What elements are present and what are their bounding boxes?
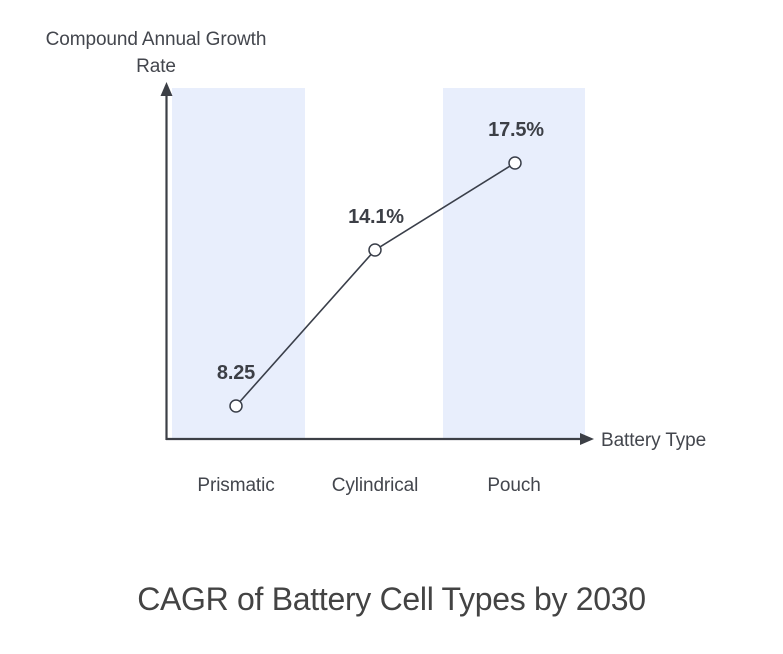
x-axis-title: Battery Type xyxy=(601,428,706,454)
chart-container: Compound Annual Growth Rate 8.25 14.1% 1… xyxy=(0,0,783,654)
data-point-label: 14.1% xyxy=(348,204,404,230)
x-axis-arrow-icon xyxy=(580,433,594,445)
category-band-prismatic xyxy=(172,88,305,439)
x-axis-tick-label-cylindrical: Cylindrical xyxy=(332,473,419,499)
x-axis-tick-label-prismatic: Prismatic xyxy=(197,473,274,499)
y-axis-arrow-icon xyxy=(161,82,173,96)
plot-area xyxy=(0,0,783,654)
x-axis-tick-label-pouch: Pouch xyxy=(487,473,540,499)
data-point-marker[interactable] xyxy=(509,157,521,169)
chart-title: CAGR of Battery Cell Types by 2030 xyxy=(0,578,783,620)
data-point-label: 8.25 xyxy=(217,360,255,386)
data-point-marker[interactable] xyxy=(369,244,381,256)
data-point-label: 17.5% xyxy=(488,117,544,143)
data-point-marker[interactable] xyxy=(230,400,242,412)
